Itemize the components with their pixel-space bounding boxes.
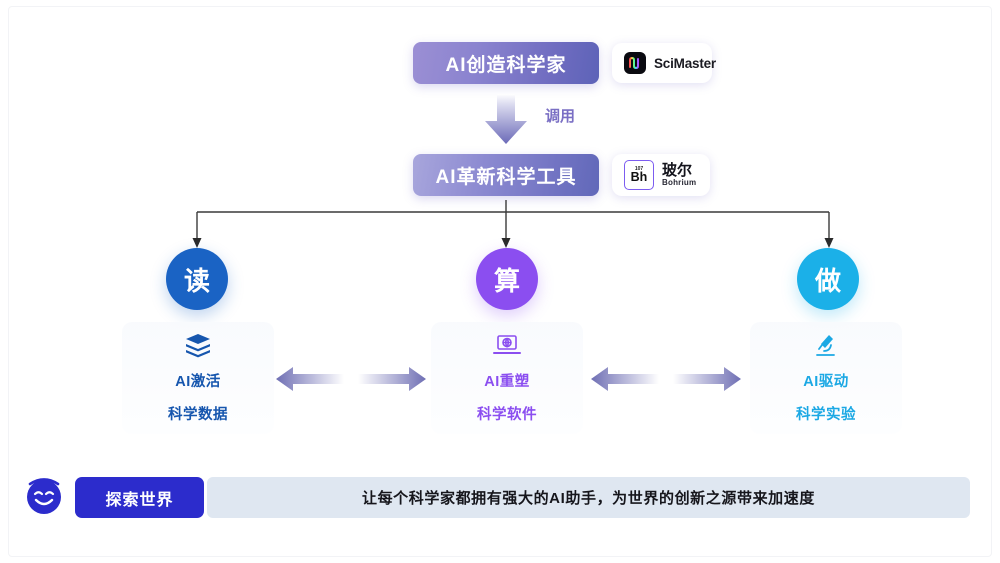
scimaster-name: SciMaster bbox=[654, 56, 716, 71]
pillar-read-line1: AI激活 bbox=[175, 370, 221, 391]
microscope-icon bbox=[813, 331, 839, 361]
smiley-halo-icon bbox=[22, 473, 66, 517]
pillar-do-line2: 科学实验 bbox=[796, 403, 856, 424]
slide-canvas: AI创造科学家 SciMaster bbox=[0, 0, 1000, 563]
bohrium-wordmark: 玻尔 Bohrium bbox=[662, 163, 696, 187]
node-top-label: AI创造科学家 bbox=[445, 50, 566, 77]
pillar-circle-read-label: 读 bbox=[184, 261, 210, 298]
pillar-calc-line2: 科学软件 bbox=[477, 403, 537, 424]
bidirectional-arrow-calc-do bbox=[591, 362, 741, 396]
stacked-books-icon bbox=[184, 331, 212, 361]
pillar-do-line1: AI驱动 bbox=[803, 370, 849, 391]
bohrium-element-icon: 107 Bh bbox=[624, 160, 654, 190]
tagline-text: 让每个科学家都拥有强大的AI助手，为世界的创新之源带来加速度 bbox=[362, 487, 815, 508]
brand-chip-scimaster[interactable]: SciMaster bbox=[612, 43, 712, 83]
bohrium-name-en: Bohrium bbox=[662, 179, 696, 187]
call-down-arrow-icon bbox=[482, 94, 530, 144]
pillar-read-line2: 科学数据 bbox=[168, 403, 228, 424]
pillar-card-calc[interactable]: AI重塑 科学软件 bbox=[431, 322, 583, 434]
pillar-circle-do[interactable]: 做 bbox=[797, 248, 859, 310]
pillar-card-do[interactable]: AI驱动 科学实验 bbox=[750, 322, 902, 434]
scimaster-wave-icon bbox=[624, 52, 646, 74]
brand-chip-bohrium[interactable]: 107 Bh 玻尔 Bohrium bbox=[612, 154, 710, 196]
pillar-circle-read[interactable]: 读 bbox=[166, 248, 228, 310]
node-mid-label: AI革新科学工具 bbox=[435, 162, 576, 189]
tagline-banner: 让每个科学家都拥有强大的AI助手，为世界的创新之源带来加速度 bbox=[207, 477, 970, 518]
pillar-circle-do-label: 做 bbox=[815, 261, 841, 298]
explore-world-label: 探索世界 bbox=[105, 486, 173, 510]
node-ai-renews-tools[interactable]: AI革新科学工具 bbox=[413, 154, 599, 196]
pillar-circle-calc-label: 算 bbox=[494, 261, 520, 298]
laptop-icon bbox=[492, 331, 522, 361]
pillar-card-read[interactable]: AI激活 科学数据 bbox=[122, 322, 274, 434]
node-ai-creates-scientist[interactable]: AI创造科学家 bbox=[413, 42, 599, 84]
bohrium-name-cn: 玻尔 bbox=[662, 163, 696, 179]
pillar-circle-calc[interactable]: 算 bbox=[476, 248, 538, 310]
bidirectional-arrow-read-calc bbox=[276, 362, 426, 396]
explore-world-button[interactable]: 探索世界 bbox=[75, 477, 204, 518]
call-label: 调用 bbox=[545, 105, 575, 126]
bohrium-symbol: Bh bbox=[631, 171, 648, 184]
pillar-calc-line1: AI重塑 bbox=[484, 370, 530, 391]
